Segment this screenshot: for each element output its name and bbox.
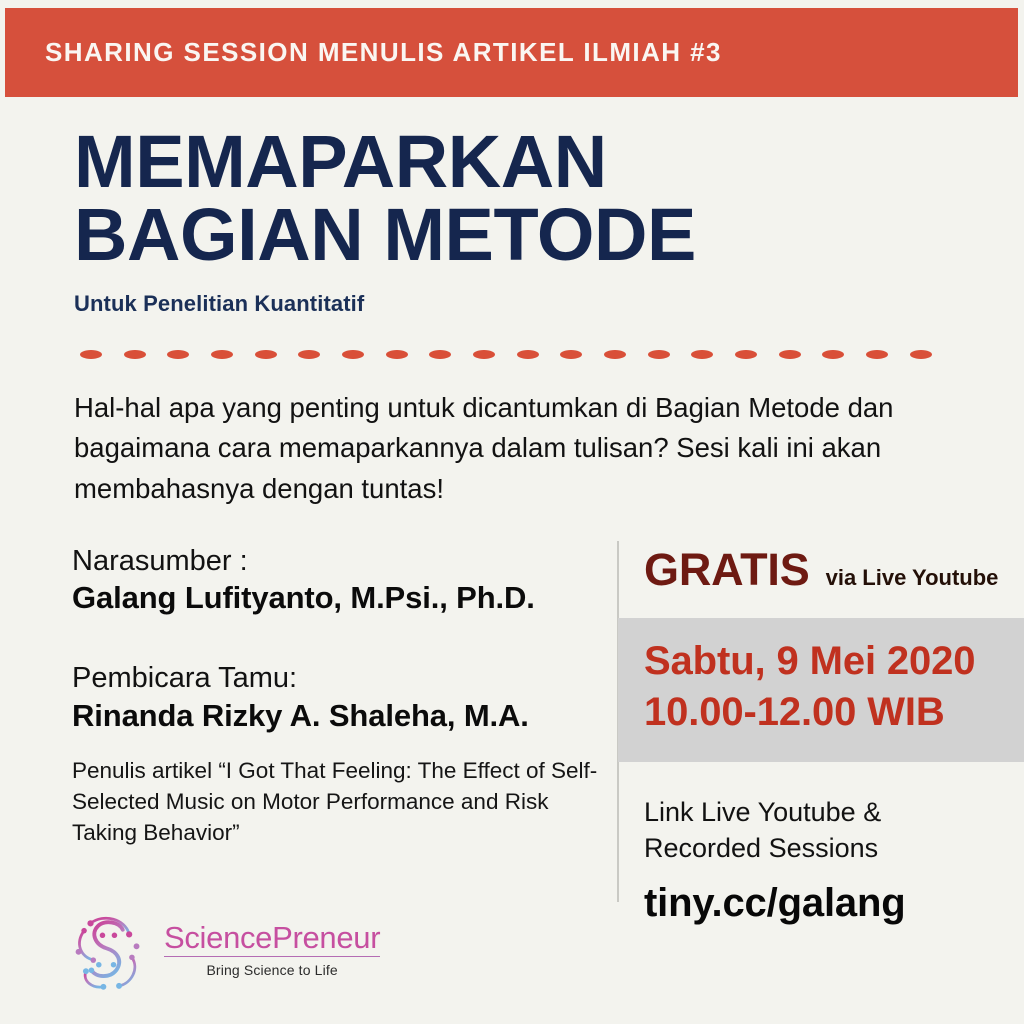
dash-dot — [298, 350, 320, 359]
dash-dot — [779, 350, 801, 359]
free-label: GRATIS — [644, 544, 810, 596]
dash-dot — [735, 350, 757, 359]
speaker-block-main: Narasumber : Galang Lufityanto, M.Psi., … — [72, 544, 602, 617]
dash-dot — [604, 350, 626, 359]
sciencepreneur-logo: SciencePreneur Bring Science to Life — [62, 902, 362, 998]
guest-article-note: Penulis artikel “I Got That Feeling: The… — [72, 756, 602, 848]
guest-name: Rinanda Rizky A. Shaleha, M.A. — [72, 697, 602, 735]
dash-dot — [560, 350, 582, 359]
info-column: GRATIS via Live Youtube Sabtu, 9 Mei 202… — [618, 536, 1024, 916]
dash-dot — [211, 350, 233, 359]
dash-dot — [386, 350, 408, 359]
dash-dot — [429, 350, 451, 359]
logo-wordmark: SciencePreneur Bring Science to Life — [164, 922, 380, 979]
guest-role-label: Pembicara Tamu: — [72, 661, 602, 696]
page-subtitle: Untuk Penelitian Kuantitatif — [74, 291, 874, 317]
page-title-line-2: BAGIAN METODE — [74, 199, 874, 272]
platform-label: via Live Youtube — [826, 565, 999, 591]
dashed-separator — [80, 349, 932, 359]
speaker-spacer — [72, 617, 602, 661]
free-badge: GRATIS via Live Youtube — [644, 544, 998, 596]
dash-dot — [822, 350, 844, 359]
intro-paragraph: Hal-hal apa yang penting untuk dicantumk… — [74, 388, 944, 509]
dash-dot — [167, 350, 189, 359]
speakers-column: Narasumber : Galang Lufityanto, M.Psi., … — [72, 544, 602, 849]
dash-dot — [124, 350, 146, 359]
logo-tagline: Bring Science to Life — [206, 962, 337, 978]
dash-dot — [648, 350, 670, 359]
dash-dot — [473, 350, 495, 359]
event-time: 10.00-12.00 WIB — [644, 687, 1024, 738]
page-title-line-1: MEMAPARKAN — [74, 126, 874, 199]
banner-title: SHARING SESSION MENULIS ARTIKEL ILMIAH #… — [5, 37, 722, 68]
dash-dot — [255, 350, 277, 359]
dash-dot — [866, 350, 888, 359]
date-time-box: Sabtu, 9 Mei 2020 10.00-12.00 WIB — [618, 618, 1024, 762]
link-description: Link Live Youtube & Recorded Sessions — [644, 794, 1004, 867]
dash-dot — [910, 350, 932, 359]
header-banner: SHARING SESSION MENULIS ARTIKEL ILMIAH #… — [5, 8, 1018, 97]
event-date: Sabtu, 9 Mei 2020 — [644, 636, 1024, 687]
dash-dot — [691, 350, 713, 359]
speaker-role-label: Narasumber : — [72, 544, 602, 579]
logo-name: SciencePreneur — [164, 922, 380, 953]
speaker-block-guest: Pembicara Tamu: Rinanda Rizky A. Shaleha… — [72, 661, 602, 734]
logo-underline — [164, 956, 380, 958]
poster-canvas: SHARING SESSION MENULIS ARTIKEL ILMIAH #… — [0, 0, 1024, 1024]
sciencepreneur-s-mark-icon — [62, 904, 154, 996]
dash-dot — [517, 350, 539, 359]
speaker-name: Galang Lufityanto, M.Psi., Ph.D. — [72, 579, 602, 617]
title-block: MEMAPARKAN BAGIAN METODE Untuk Penelitia… — [74, 126, 874, 317]
dash-dot — [342, 350, 364, 359]
dash-dot — [80, 350, 102, 359]
registration-link[interactable]: tiny.cc/galang — [644, 881, 906, 926]
